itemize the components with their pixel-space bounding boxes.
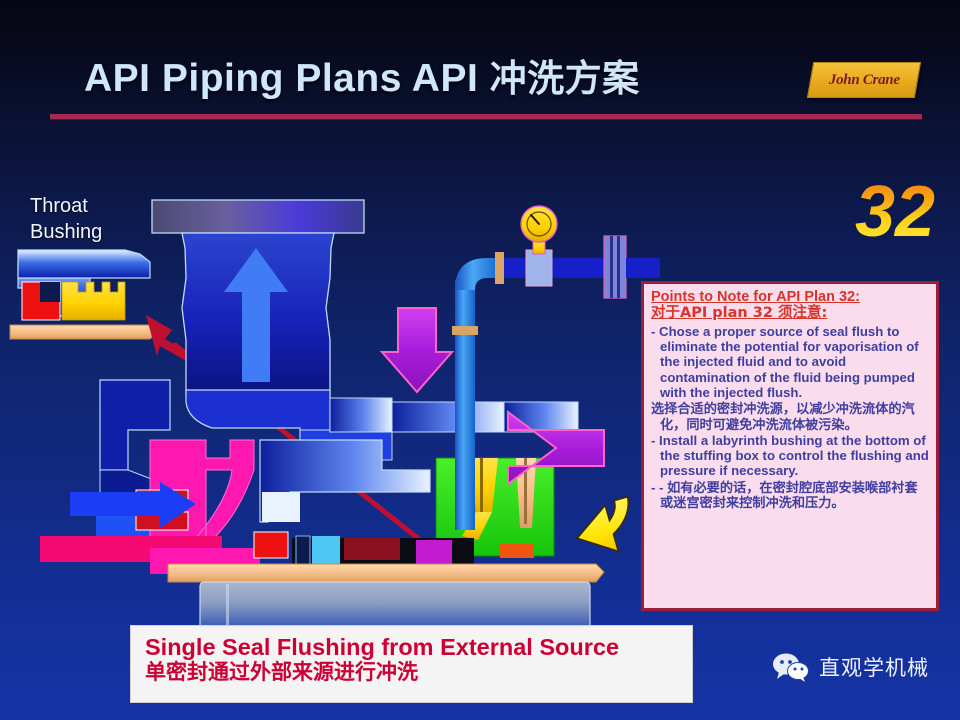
page-title-en: API Piping Plans API <box>84 57 478 100</box>
page-title: API Piping Plans API 冲洗方案 <box>84 48 640 102</box>
note-item-1: - Chose a proper source of seal flush to… <box>651 324 929 401</box>
notes-heading-cn: 对于API plan 32 须注意: <box>651 305 929 322</box>
pressure-gauge <box>521 206 557 254</box>
caption-box: Single Seal Flushing from External Sourc… <box>130 625 693 703</box>
note-item-4: - - 如有必要的话，在密封腔底部安装喉部衬套或迷宫密封来控制冲洗和压力。 <box>651 480 929 511</box>
orifice-plate <box>604 236 626 298</box>
wechat-watermark-text: 直观学机械 <box>819 652 929 682</box>
drain-curved-arrow <box>570 497 641 562</box>
notes-list: - Chose a proper source of seal flush to… <box>651 324 929 511</box>
pipe-coupling <box>526 250 552 286</box>
notes-panel: Points to Note for API Plan 32: 对于API pl… <box>641 281 939 611</box>
slide-api-plan-32: API Piping Plans API 冲洗方案 John Crane 32 <box>0 0 960 720</box>
flush-down-arrow <box>382 308 452 392</box>
throat-bushing-label-line2: Bushing <box>30 220 102 246</box>
plan-number: 32 <box>855 176 935 248</box>
pipe-flange-lower <box>452 326 478 335</box>
discharge-nozzle <box>152 200 364 395</box>
seal-spring-housing <box>344 538 400 560</box>
throat-bushing-label: Throat Bushing <box>30 194 102 245</box>
note-item-3: - Install a labyrinth bushing at the bot… <box>651 433 929 479</box>
seal-oring <box>500 544 534 558</box>
john-crane-logo-text: John Crane <box>829 72 900 89</box>
caption-cn: 单密封通过外部来源进行冲洗 <box>145 660 692 685</box>
throat-bushing-label-line1: Throat <box>30 194 102 220</box>
note-item-2: 选择合适的密封冲洗源，以减少冲洗流体的汽化，同时可避免冲洗流体被污染。 <box>651 401 929 432</box>
wechat-icon <box>772 652 810 682</box>
throat-bushing-detail <box>10 250 158 339</box>
seal-face <box>312 536 340 566</box>
notes-heading-en: Points to Note for API Plan 32: <box>651 289 929 305</box>
pipe-flange-elbow <box>495 252 504 284</box>
header-divider <box>50 114 922 119</box>
caption-en: Single Seal Flushing from External Sourc… <box>145 634 692 660</box>
john-crane-logo: John Crane <box>807 62 921 98</box>
page-title-cn: 冲洗方案 <box>490 57 640 100</box>
wechat-watermark: 直观学机械 <box>772 652 929 682</box>
pipe-to-valve <box>626 258 660 278</box>
seal-bellows <box>416 540 458 566</box>
